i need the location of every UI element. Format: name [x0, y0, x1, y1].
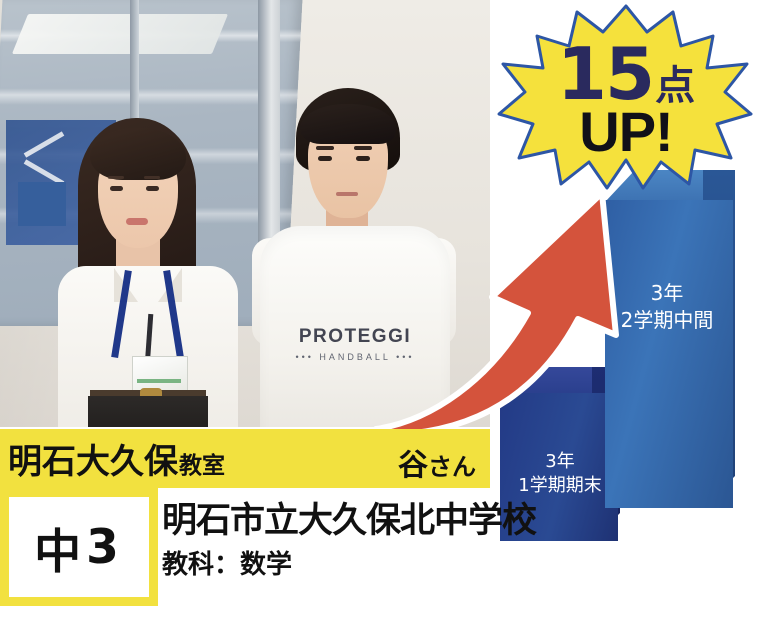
grade-badge: 中 3 [9, 497, 149, 597]
classroom-name-group: 明石大久保 教室 [8, 434, 225, 483]
grade-badge-outer: 中 3 [0, 488, 158, 606]
student-bangs [300, 104, 396, 144]
photo-person-student: PROTEGGI ••• HANDBALL ••• [250, 88, 460, 427]
photo-person-teacher [58, 118, 238, 427]
classroom-band: 明石大久保 教室 谷 さん [0, 429, 490, 488]
caption-block: 明石大久保 教室 谷 さん 中 3 明石市立大久保北中学校 教科：数学 [0, 429, 490, 606]
teacher-mouth [126, 218, 148, 225]
student-eyebrow-right [354, 146, 372, 150]
subject-label: 教科：数学 [162, 544, 292, 581]
score-up-badge: 15 点 UP! [497, 2, 755, 192]
student-teacher-photo: PROTEGGI ••• HANDBALL ••• [0, 0, 490, 427]
student-name-group: 谷 さん [398, 440, 476, 484]
student-honorific: さん [428, 447, 476, 482]
photo-ceiling-light [12, 14, 228, 54]
bar-current-front-face [605, 200, 733, 508]
teacher-eyebrow-right [144, 176, 160, 179]
classroom-name: 明石大久保 [8, 434, 178, 483]
result-poster: PROTEGGI ••• HANDBALL ••• 3年2学期中間 3年1学期期… [0, 0, 760, 620]
grade-number: 3 [86, 520, 124, 575]
student-name: 谷 [398, 440, 428, 484]
teacher-eye-right [146, 186, 159, 191]
teacher-eyebrow-left [108, 176, 124, 179]
teacher-skirt [88, 396, 208, 427]
caption-detail-row: 中 3 明石市立大久保北中学校 教科：数学 [0, 488, 490, 606]
starburst-icon [497, 2, 755, 192]
student-tshirt-sublogo: ••• HANDBALL ••• [278, 352, 432, 362]
teacher-bangs [90, 128, 186, 180]
bar-current-term [605, 200, 733, 508]
starburst-shape [499, 6, 751, 188]
student-eye-right [356, 156, 370, 161]
grade-kanji: 中 [34, 513, 86, 582]
grade-text-group: 中 3 [34, 513, 124, 582]
student-mouth [336, 192, 358, 196]
classroom-suffix: 教室 [179, 446, 225, 480]
student-eye-left [318, 156, 332, 161]
school-name: 明石市立大久保北中学校 [162, 492, 536, 543]
student-tshirt-logo: PROTEGGI [278, 326, 432, 348]
teacher-eye-left [110, 186, 123, 191]
student-eyebrow-left [316, 146, 334, 150]
